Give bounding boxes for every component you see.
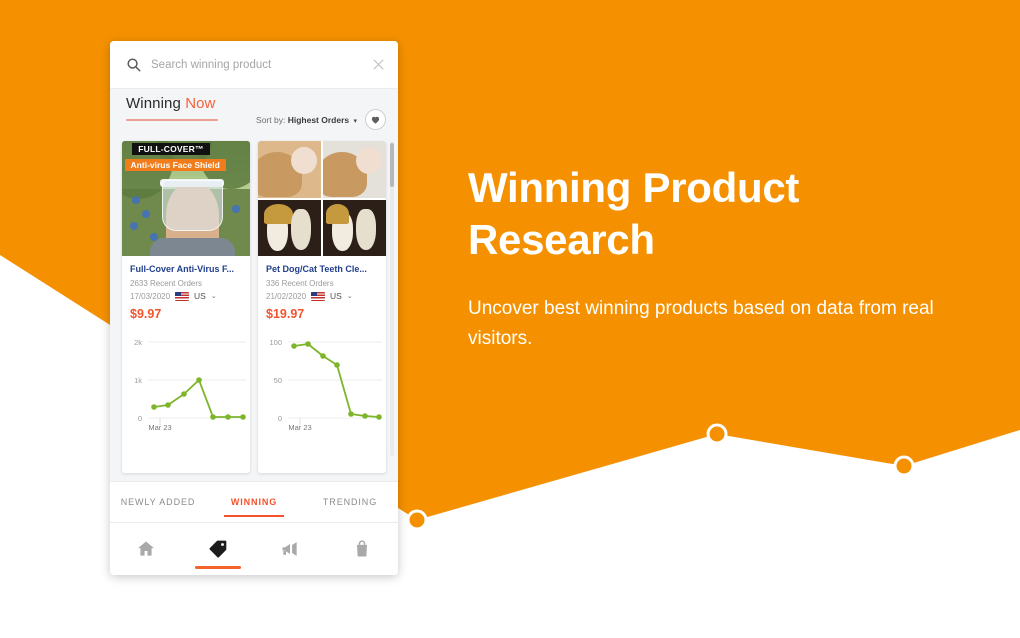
product-date: 21/02/2020 xyxy=(266,292,306,301)
product-info: Pet Dog/Cat Teeth Cle... 336 Recent Orde… xyxy=(258,256,386,329)
product-meta: 17/03/2020 US ⌄ xyxy=(130,291,242,301)
price-tag-icon xyxy=(208,539,228,559)
product-info: Full-Cover Anti-Virus F... 2633 Recent O… xyxy=(122,256,250,329)
tab-winning[interactable]: WINNING xyxy=(206,482,302,522)
product-orders: 336 Recent Orders xyxy=(266,279,378,288)
node-circle-2 xyxy=(708,425,726,443)
y-tick-label: 0 xyxy=(278,414,282,423)
product-title[interactable]: Full-Cover Anti-Virus F... xyxy=(130,263,242,275)
y-tick-label: 1k xyxy=(134,376,142,385)
product-price: $19.97 xyxy=(266,307,378,321)
thumb-3 xyxy=(258,200,321,257)
thumb-4 xyxy=(323,200,386,257)
product-title[interactable]: Pet Dog/Cat Teeth Cle... xyxy=(266,263,378,275)
y-tick-label: 50 xyxy=(274,376,282,385)
hero-copy: Winning Product Research Uncover best wi… xyxy=(468,162,938,354)
x-tick-label: Mar 23 xyxy=(288,423,311,431)
list-header: Winning Now Sort by: Highest Orders ▾ xyxy=(110,89,398,135)
megaphone-icon xyxy=(280,539,300,559)
us-flag-icon xyxy=(311,292,325,301)
title-underline xyxy=(126,119,218,121)
page-title-accent: Now xyxy=(185,95,215,112)
x-tick-label: Mar 23 xyxy=(148,423,171,431)
orders-line-chart-2: 100 50 0 xyxy=(262,333,386,431)
node-circle-1 xyxy=(408,511,426,529)
nav-products[interactable] xyxy=(182,523,254,575)
page-root: Winning Now Sort by: Highest Orders ▾ xyxy=(0,0,1020,638)
hero-subtitle: Uncover best winning products based on d… xyxy=(468,294,938,354)
nav-store[interactable] xyxy=(326,523,398,575)
chevron-down-icon: ▾ xyxy=(353,117,357,125)
y-tick-label: 0 xyxy=(138,414,142,423)
scrollbar-thumb[interactable] xyxy=(390,143,394,187)
product-meta: 21/02/2020 US ⌄ xyxy=(266,291,378,301)
app-preview-card: Winning Now Sort by: Highest Orders ▾ xyxy=(110,41,398,575)
tab-label: TRENDING xyxy=(323,497,377,507)
chevron-down-icon[interactable]: ⌄ xyxy=(347,292,353,300)
search-input[interactable] xyxy=(151,59,372,71)
search-icon xyxy=(126,57,141,72)
product-card[interactable]: FULL-COVER™ Anti-virus Face Shield Full-… xyxy=(122,141,250,473)
page-title-plain: Winning xyxy=(126,95,181,112)
tab-label: NEWLY ADDED xyxy=(121,497,196,507)
thumb-2 xyxy=(323,141,386,198)
product-image-face-shield: FULL-COVER™ Anti-virus Face Shield xyxy=(122,141,250,256)
y-tick-label: 2k xyxy=(134,338,142,347)
bottom-navigation xyxy=(110,523,398,575)
product-list[interactable]: FULL-COVER™ Anti-virus Face Shield Full-… xyxy=(110,135,398,481)
tab-label: WINNING xyxy=(231,497,277,507)
hero-title-line-2: Research xyxy=(468,216,655,263)
home-icon xyxy=(136,539,156,559)
image-badge-title: FULL-COVER™ xyxy=(132,143,209,155)
product-country: US xyxy=(194,291,206,301)
tab-trending[interactable]: TRENDING xyxy=(302,482,398,522)
product-chart: 2k 1k 0 xyxy=(122,329,250,439)
shopping-bag-icon xyxy=(352,539,372,559)
sort-dropdown[interactable]: Sort by: Highest Orders ▾ xyxy=(256,115,357,125)
search-bar[interactable] xyxy=(110,41,398,89)
scrollbar-track[interactable] xyxy=(390,141,394,456)
product-image-pet-teeth xyxy=(258,141,386,256)
node-circle-3 xyxy=(895,457,913,475)
product-chart: 100 50 0 xyxy=(258,329,386,439)
nav-marketing[interactable] xyxy=(254,523,326,575)
product-orders: 2633 Recent Orders xyxy=(130,279,242,288)
tab-newly-added[interactable]: NEWLY ADDED xyxy=(110,482,206,522)
nav-home[interactable] xyxy=(110,523,182,575)
heart-icon xyxy=(370,114,381,125)
sort-value-label: Highest Orders xyxy=(288,115,349,125)
hero-title: Winning Product Research xyxy=(468,162,938,266)
y-tick-label: 100 xyxy=(269,338,282,347)
product-price: $9.97 xyxy=(130,307,242,321)
favorite-button[interactable] xyxy=(365,109,386,130)
product-card[interactable]: Pet Dog/Cat Teeth Cle... 336 Recent Orde… xyxy=(258,141,386,473)
us-flag-icon xyxy=(175,292,189,301)
hero-title-line-1: Winning Product xyxy=(468,164,799,211)
orders-line-chart-1: 2k 1k 0 xyxy=(126,333,250,431)
image-badge-subtitle: Anti-virus Face Shield xyxy=(125,159,226,171)
product-date: 17/03/2020 xyxy=(130,292,170,301)
sort-controls: Sort by: Highest Orders ▾ xyxy=(256,109,386,130)
thumb-1 xyxy=(258,141,321,198)
product-country: US xyxy=(330,291,342,301)
sort-prefix-label: Sort by: xyxy=(256,115,285,125)
tab-bar: NEWLY ADDED WINNING TRENDING xyxy=(110,481,398,523)
close-icon[interactable] xyxy=(372,58,385,71)
chevron-down-icon[interactable]: ⌄ xyxy=(211,292,217,300)
